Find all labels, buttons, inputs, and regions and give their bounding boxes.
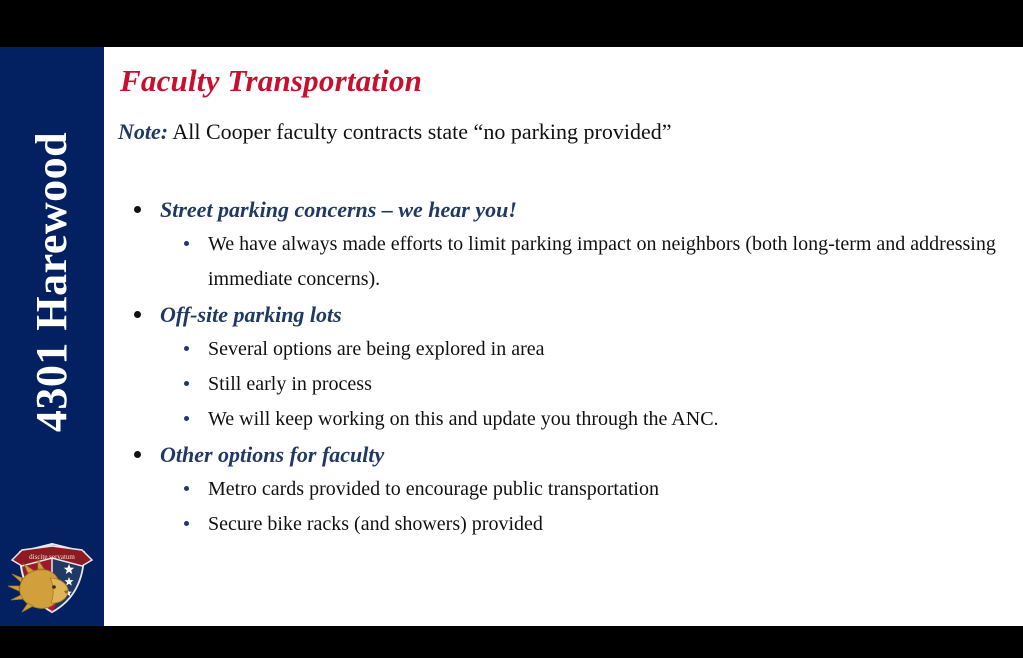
sub-bullet: Secure bike racks (and showers) provided — [118, 507, 1015, 542]
sub-bullet-text: Metro cards provided to encourage public… — [208, 472, 1015, 507]
crest-motto-text: discite servatum — [29, 553, 75, 561]
sidebar-vertical-title-wrap: 4301 Harewood — [0, 47, 104, 517]
sub-bullet-dot-icon — [184, 486, 189, 491]
sub-bullet: Several options are being explored in ar… — [118, 332, 1015, 367]
sub-bullet: We will keep working on this and update … — [118, 402, 1015, 437]
sub-bullet-text: We will keep working on this and update … — [208, 402, 1015, 437]
bullet-group: Off-site parking lots Several options ar… — [118, 299, 1015, 437]
note-line: Note: All Cooper faculty contracts state… — [118, 119, 672, 145]
bullet-group: Street parking concerns – we hear you! W… — [118, 194, 1015, 297]
sub-bullet-dot-icon — [184, 381, 189, 386]
letterbox-bottom-bar — [0, 626, 1023, 658]
bullet-list: Street parking concerns – we hear you! W… — [118, 194, 1015, 544]
sub-bullet-dot-icon — [184, 241, 189, 246]
sub-bullet: We have always made efforts to limit par… — [118, 227, 1015, 297]
letterbox-top-bar — [0, 0, 1023, 47]
sub-bullet-dot-icon — [184, 346, 189, 351]
sub-bullet-text: Several options are being explored in ar… — [208, 332, 1015, 367]
note-text: All Cooper faculty contracts state “no p… — [168, 119, 671, 144]
bullet-group: Other options for faculty Metro cards pr… — [118, 439, 1015, 542]
page-title: Faculty Transportation — [120, 63, 422, 99]
bullet-heading-text: Other options for faculty — [160, 442, 384, 467]
bullet-dot-icon — [134, 206, 141, 213]
slide-frame: 4301 Harewood — [0, 0, 1023, 658]
sidebar: 4301 Harewood — [0, 47, 104, 626]
slide-canvas: 4301 Harewood — [0, 47, 1023, 626]
bullet-dot-icon — [134, 451, 141, 458]
bullet-heading-text: Off-site parking lots — [160, 302, 342, 327]
sub-bullet-dot-icon — [184, 521, 189, 526]
sidebar-vertical-title: 4301 Harewood — [30, 132, 74, 432]
bullet-heading: Off-site parking lots — [118, 299, 1015, 331]
bullet-heading: Other options for faculty — [118, 439, 1015, 471]
school-crest-logo: discite servatum — [6, 534, 98, 620]
sub-bullet-dot-icon — [184, 416, 189, 421]
bullet-heading-text: Street parking concerns – we hear you! — [160, 197, 517, 222]
sub-bullet: Still early in process — [118, 367, 1015, 402]
bullet-dot-icon — [134, 311, 141, 318]
sub-bullet: Metro cards provided to encourage public… — [118, 472, 1015, 507]
sub-bullet-text: Still early in process — [208, 367, 1015, 402]
note-label: Note: — [118, 119, 168, 144]
sub-bullet-text: We have always made efforts to limit par… — [208, 227, 1015, 297]
slide-content: Faculty Transportation Note: All Cooper … — [104, 47, 1023, 626]
sub-bullet-text: Secure bike racks (and showers) provided — [208, 507, 1015, 542]
bullet-heading: Street parking concerns – we hear you! — [118, 194, 1015, 226]
